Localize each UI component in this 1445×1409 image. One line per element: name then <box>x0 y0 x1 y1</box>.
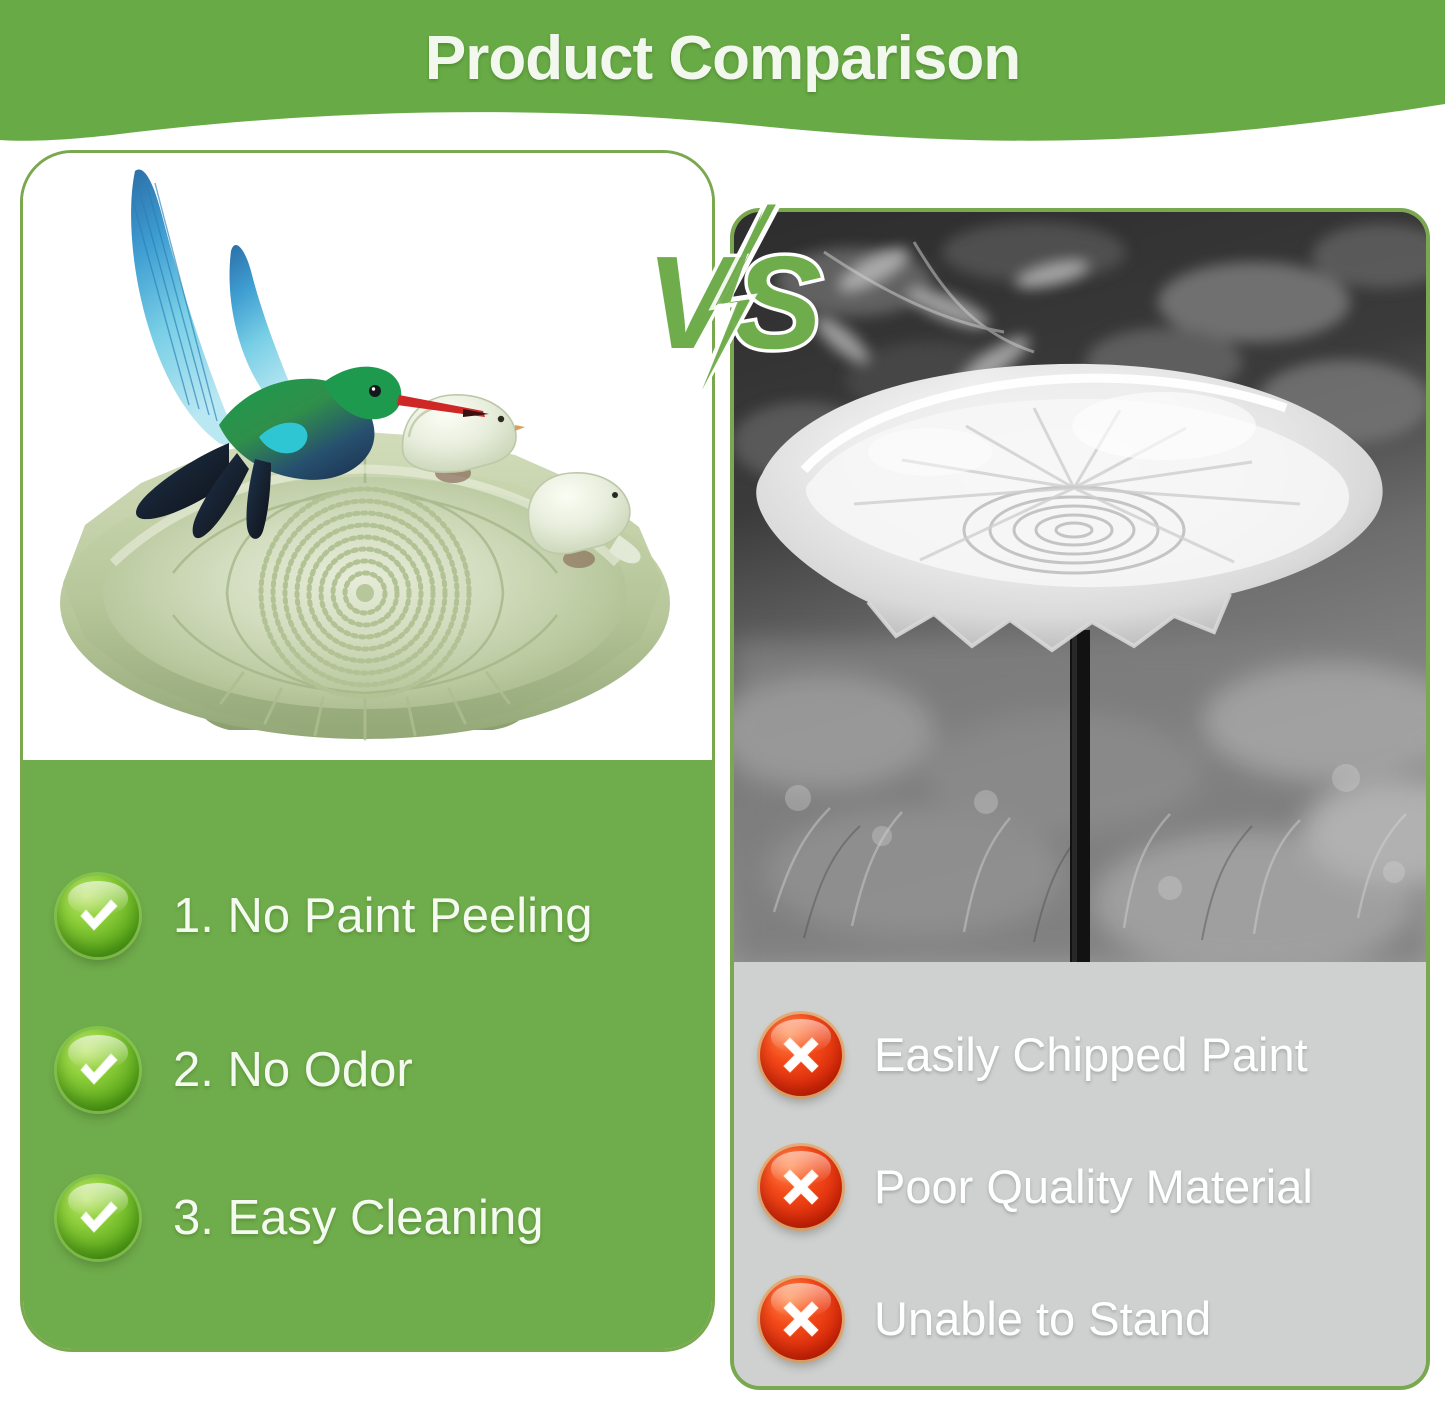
product-comparison-infographic: Product Comparison <box>0 0 1445 1409</box>
list-item: Unable to Stand <box>760 1274 1420 1364</box>
x-circle-icon <box>760 1014 842 1096</box>
list-item: 3. Easy Cleaning <box>57 1170 697 1266</box>
ceramic-birdbath-illustration <box>23 153 712 760</box>
glass-birdbath-illustration <box>734 212 1426 962</box>
left-product-panel: 1. No Paint Peeling 2. No Odor 3. Easy C… <box>20 150 715 1352</box>
pro-label: 2. No Odor <box>173 1042 413 1098</box>
list-item: Easily Chipped Paint <box>760 1010 1420 1100</box>
list-item: 1. No Paint Peeling <box>57 868 697 964</box>
check-circle-icon <box>57 875 139 957</box>
check-circle-icon <box>57 1177 139 1259</box>
con-label: Easily Chipped Paint <box>874 1028 1308 1082</box>
ceramic-birdbath-photo <box>23 153 712 760</box>
con-label: Poor Quality Material <box>874 1160 1313 1214</box>
header-band: Product Comparison <box>0 0 1445 160</box>
check-circle-icon <box>57 1029 139 1111</box>
con-label: Unable to Stand <box>874 1292 1211 1346</box>
pros-list: 1. No Paint Peeling 2. No Odor 3. Easy C… <box>23 760 712 1349</box>
glass-birdbath-photo <box>734 212 1426 962</box>
page-title: Product Comparison <box>0 22 1445 96</box>
cons-list: Easily Chipped Paint Poor Quality Materi… <box>734 962 1426 1386</box>
right-product-panel: Easily Chipped Paint Poor Quality Materi… <box>730 208 1430 1390</box>
list-item: Poor Quality Material <box>760 1142 1420 1232</box>
x-circle-icon <box>760 1278 842 1360</box>
pro-label: 3. Easy Cleaning <box>173 1190 543 1246</box>
x-circle-icon <box>760 1146 842 1228</box>
list-item: 2. No Odor <box>57 1022 697 1118</box>
pro-label: 1. No Paint Peeling <box>173 888 593 944</box>
